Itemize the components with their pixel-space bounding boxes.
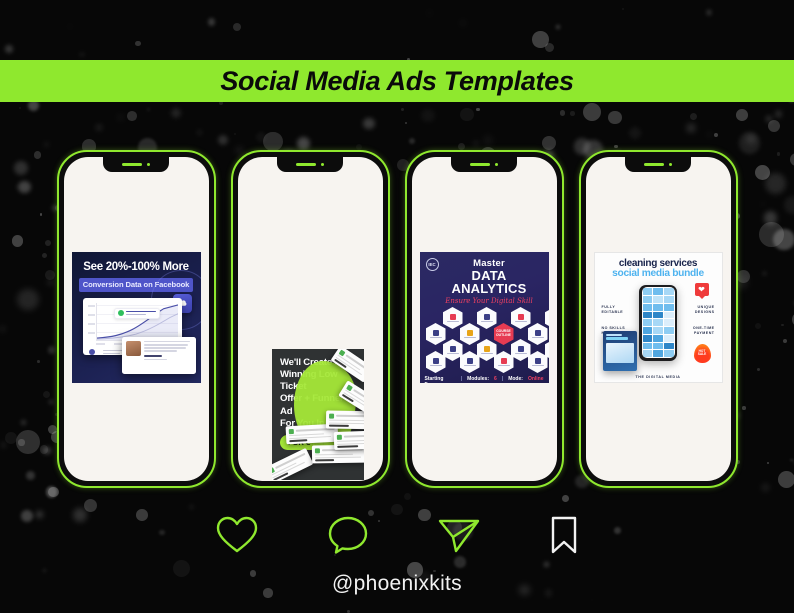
comment-icon[interactable] [327, 515, 369, 555]
phone-3-notch [451, 157, 517, 172]
ad4-visual: ❤ FULLY EDITABLE NO SKILLS NEEDED UNIQUE… [600, 283, 717, 379]
phone-1-notch [103, 157, 169, 172]
ad3-course-hex-grid: COURSE OUTLINE [425, 307, 544, 373]
heart-icon[interactable] [215, 515, 259, 555]
cleaning-services-bundle-ad[interactable]: cleaning services social media bundle ❤ … [594, 252, 723, 383]
separator: | [461, 376, 462, 383]
iec-logo: IEC [426, 258, 439, 271]
phone-1[interactable]: See 20%-100% More Conversion Data on Fac… [57, 150, 216, 488]
list-item [326, 410, 364, 429]
phone-1-screen: See 20%-100% More Conversion Data on Fac… [64, 157, 209, 481]
ad4-product-box [603, 331, 637, 371]
share-icon[interactable] [437, 515, 481, 555]
separator: | [502, 376, 503, 383]
bookmark-icon[interactable] [549, 515, 579, 555]
phone-mockups-row: See 20%-100% More Conversion Data on Fac… [0, 150, 794, 490]
title-banner: Social Media Ads Templates [0, 60, 794, 102]
ad3-meta-row: Starting From | Modules: 6 | Mode: Onlin… [425, 376, 544, 383]
hex-cell [460, 323, 480, 345]
phone-3[interactable]: IEC Master DATA ANALYTICS Ensure Your Di… [405, 150, 564, 488]
hot-sale-label: HOT SALE [698, 350, 707, 357]
ad4-feature-1: FULLY EDITABLE [602, 305, 624, 316]
hex-cell [443, 307, 463, 329]
ad4-phone-mockup [639, 285, 677, 361]
hex-cell [545, 307, 549, 329]
hex-cell-center: COURSE OUTLINE [494, 323, 514, 345]
hot-sale-badge: HOT SALE [694, 344, 711, 363]
page-title: Social Media Ads Templates [220, 66, 573, 97]
account-handle: @phoenixkits [0, 572, 794, 596]
ad4-feature-3: UNIQUE DESIGNS [695, 305, 715, 316]
ad4-brand-name: THE DIGITAL MEDIA [635, 375, 680, 379]
ad1-chart-callout [114, 308, 160, 319]
list-item [272, 448, 314, 479]
speaker-icon [122, 163, 142, 166]
ad1-visual [79, 298, 194, 372]
hex-cell [528, 323, 548, 345]
phone-2-screen: We'll Create A Winning Low Ticket Offer … [238, 157, 383, 481]
ad1-testimonial-text [144, 341, 191, 370]
phone-4-screen: cleaning services social media bundle ❤ … [586, 157, 731, 481]
camera-icon [147, 163, 151, 167]
ad3-center-label: COURSE OUTLINE [494, 330, 514, 338]
camera-icon [669, 163, 673, 167]
camera-icon [495, 163, 499, 167]
avatar [126, 341, 141, 356]
phone-2[interactable]: We'll Create A Winning Low Ticket Offer … [231, 150, 390, 488]
social-actions-row [0, 505, 794, 565]
phone-4[interactable]: cleaning services social media bundle ❤ … [579, 150, 738, 488]
ad4-title-line-2: social media bundle [600, 269, 717, 280]
ad4-brand-footer: THE DIGITAL MEDIA [600, 375, 717, 379]
camera-icon [321, 163, 325, 167]
speaker-icon [470, 163, 490, 166]
low-ticket-offer-ad[interactable]: We'll Create A Winning Low Ticket Offer … [272, 349, 364, 480]
ad3-modules-label: Modules: [467, 376, 489, 383]
list-item [330, 349, 364, 383]
phone-2-notch [277, 157, 343, 172]
ad3-script-line: Ensure Your Digital Skill [435, 297, 544, 305]
speaker-icon [296, 163, 316, 166]
ad3-modules-value: 6 [494, 376, 497, 383]
phone-4-notch [625, 157, 691, 172]
ad1-testimonial-card [122, 337, 195, 374]
phone-3-screen: IEC Master DATA ANALYTICS Ensure Your Di… [412, 157, 557, 481]
ad3-headline: DATA ANALYTICS [435, 269, 544, 295]
conversion-data-ad[interactable]: See 20%-100% More Conversion Data on Fac… [72, 252, 201, 383]
hex-cell [426, 323, 446, 345]
ad4-feature-4: ONE-TIME PAYMENT [693, 326, 715, 337]
heart-badge-icon: ❤ [695, 283, 709, 296]
data-analytics-ad[interactable]: IEC Master DATA ANALYTICS Ensure Your Di… [420, 252, 549, 383]
ad2-payment-notifications [272, 349, 364, 480]
ad3-starting: Starting From [425, 376, 456, 383]
list-item [334, 429, 364, 449]
speaker-icon [644, 163, 664, 166]
ad1-chart-plot [96, 303, 178, 341]
ad4-post-grid [642, 287, 675, 358]
ad3-mode-value: Online [528, 376, 544, 383]
hex-cell [511, 307, 531, 329]
hex-cell [477, 307, 497, 329]
ad3-mode-label: Mode: [508, 376, 523, 383]
